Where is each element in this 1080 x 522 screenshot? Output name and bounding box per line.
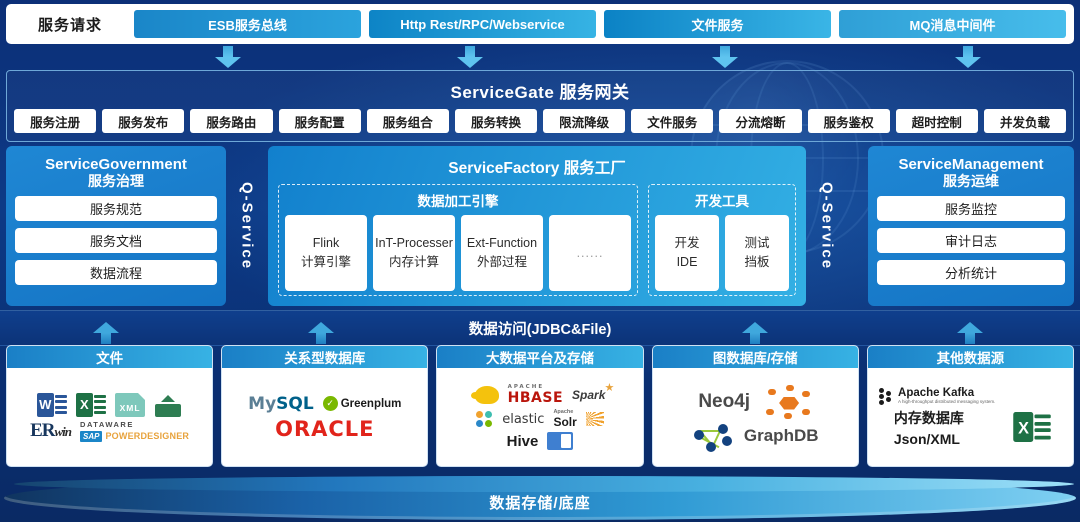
engine-tile-row: Flink 计算引擎 InT-Processer 内存计算 Ext-Functi…: [285, 215, 631, 291]
engine-tile-int-desc: 内存计算: [389, 255, 439, 270]
service-request-bar: 服务请求 ESB服务总线 Http Rest/RPC/Webservice 文件…: [6, 4, 1074, 44]
neo4j-graph-icon: [692, 422, 732, 450]
erwin-logo-text: ER: [30, 420, 54, 441]
others-logo-row-2: 内存数据库 Json/XML X: [872, 408, 1069, 447]
source-card-bigdata-title: 大数据平台及存储: [437, 346, 642, 368]
governance-item-0[interactable]: 服务规范: [15, 196, 217, 221]
data-access-band: 数据访问(JDBC&File): [0, 310, 1080, 346]
gate-capability-0[interactable]: 服务注册: [14, 109, 96, 133]
others-logo-row-1: Apache Kafka A high-throughput distribut…: [872, 388, 1069, 405]
word-icon: W: [37, 393, 67, 417]
service-management-title-en: ServiceManagement: [877, 156, 1065, 173]
data-access-label: 数据访问(JDBC&File): [469, 318, 612, 339]
kafka-logo-text: Apache Kafka A high-throughput distribut…: [898, 388, 995, 405]
source-card-rdbms[interactable]: 关系型数据库 MySQL ✓ Greenplum ORACLE: [221, 345, 428, 467]
json-xml-label: Json/XML: [894, 431, 960, 447]
q-service-left-text: Q-Service: [239, 182, 256, 270]
base-ellipse-top: [14, 476, 1074, 492]
service-factory-panel: ServiceFactory 服务工厂 数据加工引擎 Flink 计算引擎 In…: [268, 146, 806, 306]
dev-tool-test[interactable]: 测试 挡板: [725, 215, 789, 291]
kafka-logo: Apache Kafka A high-throughput distribut…: [879, 388, 995, 405]
down-arrow-1: [215, 46, 241, 68]
dev-tool-ide[interactable]: 开发 IDE: [655, 215, 719, 291]
dev-tools-title: 开发工具: [655, 190, 789, 210]
service-management-title: ServiceManagement 服务运维: [877, 156, 1065, 189]
gate-capability-9[interactable]: 服务鉴权: [808, 109, 890, 133]
data-source-cards: 文件 W X XML ERwin DATAWARE: [6, 345, 1074, 467]
source-card-file-body: W X XML ERwin DATAWARE SAP POWERDESIGNER: [7, 368, 212, 466]
service-gate-title: ServiceGate 服务网关: [7, 78, 1073, 103]
gate-capability-6[interactable]: 限流降级: [543, 109, 625, 133]
service-government-panel: ServiceGovernment 服务治理 服务规范 服务文档 数据流程: [6, 146, 226, 306]
graphdb-logo-row-1: Neo4j: [657, 385, 854, 419]
greenplum-check-icon: ✓: [323, 396, 338, 411]
source-card-others-body: Apache Kafka A high-throughput distribut…: [868, 368, 1073, 466]
xml-file-icon: XML: [115, 393, 145, 417]
file-icon: [547, 432, 573, 450]
graphdb-logo-row-2: GraphDB: [657, 422, 854, 450]
up-arrow-1: [93, 322, 119, 344]
service-gate-section: ServiceGate 服务网关 服务注册 服务发布 服务路由 服务配置 服务组…: [6, 70, 1074, 142]
down-arrow-2: [457, 46, 483, 68]
source-card-bigdata[interactable]: 大数据平台及存储 APACHE HBASE Spark: [436, 345, 643, 467]
engine-tile-ext-name: Ext-Function: [467, 236, 537, 251]
down-arrow-3: [712, 46, 738, 68]
diagram-canvas: 服务请求 ESB服务总线 Http Rest/RPC/Webservice 文件…: [0, 0, 1080, 522]
engine-tile-int-processer[interactable]: InT-Processer 内存计算: [373, 215, 455, 291]
source-card-file-title: 文件: [7, 346, 212, 368]
gate-capability-3[interactable]: 服务配置: [279, 109, 361, 133]
management-item-1[interactable]: 审计日志: [877, 228, 1065, 253]
service-factory-title: ServiceFactory 服务工厂: [278, 156, 796, 178]
bigdata-logo-row-3: Hive: [441, 432, 638, 450]
service-government-title: ServiceGovernment 服务治理: [15, 156, 217, 189]
engine-tile-ext-desc: 外部过程: [477, 255, 527, 270]
graphdb-mark-icon: [764, 385, 812, 419]
service-government-title-en: ServiceGovernment: [15, 156, 217, 173]
solr-sun-icon: [586, 412, 604, 426]
kafka-dots-icon: [879, 388, 895, 405]
service-government-title-cn: 服务治理: [15, 173, 217, 189]
gate-capability-10[interactable]: 超时控制: [896, 109, 978, 133]
gate-capability-5[interactable]: 服务转换: [455, 109, 537, 133]
management-item-0[interactable]: 服务监控: [877, 196, 1065, 221]
engine-tile-more[interactable]: ......: [549, 215, 631, 291]
dev-tool-test-name: 测试: [744, 236, 769, 251]
excel-icon: X: [1013, 412, 1051, 442]
spark-logo: Spark: [572, 388, 605, 402]
engine-tile-more-label: ......: [577, 246, 604, 261]
engine-tile-flink-desc: 计算引擎: [301, 255, 351, 270]
greenplum-logo-text: Greenplum: [341, 398, 402, 410]
solr-logo-text: Solr: [553, 415, 576, 429]
hive-elephant-icon: [475, 386, 499, 404]
service-request-label: 服务请求: [14, 14, 126, 35]
data-processing-engine-group: 数据加工引擎 Flink 计算引擎 InT-Processer 内存计算 Ext…: [278, 184, 638, 296]
source-card-graphdb[interactable]: 图数据库/存储 Neo4j: [652, 345, 859, 467]
sap-logo: SAP: [80, 431, 102, 442]
service-factory-body: 数据加工引擎 Flink 计算引擎 InT-Processer 内存计算 Ext…: [278, 184, 796, 296]
up-arrow-3: [742, 322, 768, 344]
hbase-logo: APACHE HBASE: [508, 384, 563, 406]
dev-tools-group: 开发工具 开发 IDE 测试 挡板: [648, 184, 796, 296]
gate-capability-4[interactable]: 服务组合: [367, 109, 449, 133]
green-grid-icon: [1019, 388, 1062, 405]
graphdb-logo: GraphDB: [744, 426, 819, 446]
hbase-logo-text: HBASE: [508, 390, 563, 406]
data-processing-engine-title: 数据加工引擎: [285, 190, 631, 210]
dev-tool-test-desc: 挡板: [744, 255, 769, 270]
request-channel-http[interactable]: Http Rest/RPC/Webservice: [369, 10, 596, 38]
data-storage-base: 数据存储/底座: [0, 472, 1080, 522]
source-card-bigdata-body: APACHE HBASE Spark elastic Apache: [437, 368, 642, 466]
request-channel-mq[interactable]: MQ消息中间件: [839, 10, 1066, 38]
middle-layer: ServiceGovernment 服务治理 服务规范 服务文档 数据流程 Q-…: [6, 146, 1074, 306]
up-arrow-2: [308, 322, 334, 344]
rdbms-logo-row-1: MySQL ✓ Greenplum: [226, 394, 423, 414]
elastic-logo-text: elastic: [502, 412, 544, 427]
oracle-logo: ORACLE: [275, 417, 374, 441]
bigdata-logo-row-2: elastic Apache Solr: [441, 409, 638, 429]
erwin-logo: ERwin: [30, 420, 71, 442]
gate-capability-7[interactable]: 文件服务: [631, 109, 713, 133]
gate-capability-1[interactable]: 服务发布: [102, 109, 184, 133]
dev-tools-tile-row: 开发 IDE 测试 挡板: [655, 215, 789, 291]
solr-logo: Apache Solr: [553, 409, 576, 429]
up-arrow-4: [957, 322, 983, 344]
down-arrow-4: [955, 46, 981, 68]
neo4j-logo: Neo4j: [698, 391, 750, 413]
xml-file-label: XML: [120, 403, 141, 413]
management-item-2[interactable]: 分析统计: [877, 260, 1065, 285]
engine-tile-ext-function[interactable]: Ext-Function 外部过程: [461, 215, 543, 291]
bigdata-logo-row-1: APACHE HBASE Spark: [441, 384, 638, 406]
excel-icon: X: [76, 393, 106, 417]
request-channel-esb[interactable]: ESB服务总线: [134, 10, 361, 38]
file-logo-row-2: ERwin DATAWARE SAP POWERDESIGNER: [11, 420, 208, 442]
gate-capability-11[interactable]: 并发负载: [984, 109, 1066, 133]
gate-capability-2[interactable]: 服务路由: [190, 109, 272, 133]
source-card-graphdb-title: 图数据库/存储: [653, 346, 858, 368]
greenplum-logo: ✓ Greenplum: [323, 396, 402, 411]
source-card-rdbms-body: MySQL ✓ Greenplum ORACLE: [222, 368, 427, 466]
q-service-right-text: Q-Service: [819, 182, 836, 270]
engine-tile-flink-name: Flink: [313, 236, 339, 251]
service-management-title-cn: 服务运维: [877, 173, 1065, 189]
source-card-rdbms-title: 关系型数据库: [222, 346, 427, 368]
kafka-logo-tagline: A high-throughput distributed messaging …: [898, 400, 995, 405]
engine-tile-int-name: InT-Processer: [375, 236, 453, 251]
service-management-panel: ServiceManagement 服务运维 服务监控 审计日志 分析统计: [868, 146, 1074, 306]
mysql-logo-a: My: [248, 394, 276, 414]
memory-db-label: 内存数据库: [894, 408, 964, 428]
kafka-logo-name: Apache Kafka: [898, 387, 974, 399]
service-gate-capability-row: 服务注册 服务发布 服务路由 服务配置 服务组合 服务转换 限流降级 文件服务 …: [7, 103, 1073, 133]
powerdesigner-logo: POWERDESIGNER: [105, 431, 189, 441]
source-card-graphdb-body: Neo4j Graph: [653, 368, 858, 466]
request-channel-file[interactable]: 文件服务: [604, 10, 831, 38]
elastic-logo: [476, 411, 493, 428]
dev-tool-ide-name: 开发: [674, 236, 699, 251]
dataware-logo: DATAWARE: [80, 420, 134, 429]
erwin-logo-sub: win: [55, 424, 72, 439]
mysql-logo-b: SQL: [276, 394, 314, 414]
hive-logo: Hive: [507, 433, 539, 450]
base-ellipse: 数据存储/底座: [4, 476, 1076, 520]
file-logo-row-1: W X XML: [11, 393, 208, 417]
dev-tool-ide-desc: IDE: [677, 255, 698, 270]
source-card-file[interactable]: 文件 W X XML ERwin DATAWARE: [6, 345, 213, 467]
base-label: 数据存储/底座: [489, 492, 590, 513]
governance-item-2[interactable]: 数据流程: [15, 260, 217, 285]
gate-capability-8[interactable]: 分流熔断: [719, 109, 801, 133]
engine-tile-flink[interactable]: Flink 计算引擎: [285, 215, 367, 291]
green-doc-icon: [154, 393, 182, 417]
governance-item-1[interactable]: 服务文档: [15, 228, 217, 253]
source-card-others[interactable]: 其他数据源 Apache Kafka A high-throughput dis…: [867, 345, 1074, 467]
q-service-left-label: Q-Service: [226, 146, 268, 306]
mysql-logo: MySQL: [248, 394, 314, 414]
rdbms-logo-row-2: ORACLE: [226, 417, 423, 441]
source-card-others-title: 其他数据源: [868, 346, 1073, 368]
q-service-right-label: Q-Service: [806, 146, 848, 306]
